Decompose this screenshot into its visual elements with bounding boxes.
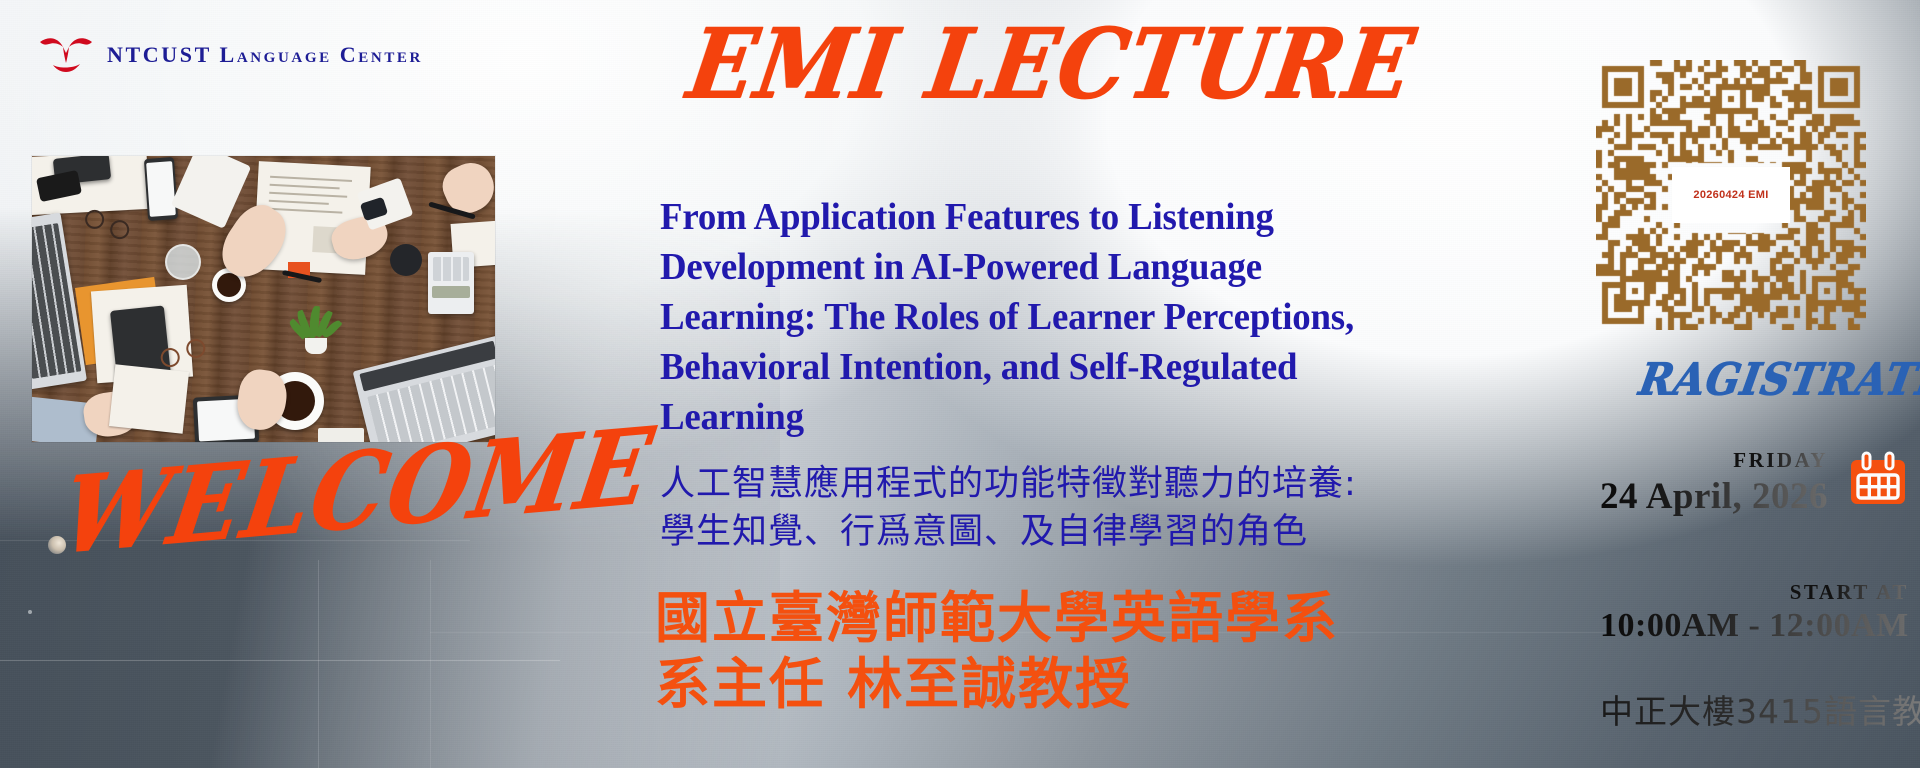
bird-wing-mark-icon	[38, 33, 94, 77]
hero-photo	[32, 156, 495, 442]
detail-row-time: Start at 10:00AM - 12:00AM	[1600, 580, 1920, 645]
lecture-title-en-line: Learning: The Roles of Learner Perceptio…	[660, 292, 1514, 342]
decor-dot-small	[28, 610, 32, 614]
registration-caption: RAGISTRATION	[1636, 358, 1920, 402]
qr-code-label: 20260424 EMI	[1672, 167, 1790, 223]
location-value: 中正大樓3415語言教室	[1600, 685, 1920, 733]
photo-water-glass	[165, 244, 201, 280]
lecture-title-en-line: Development in AI-Powered Language	[660, 242, 1514, 292]
speaker-name: 系主任 林至誠教授	[655, 651, 1555, 717]
brand-logo: NTCUST Language Center	[38, 33, 423, 77]
brand-name: NTCUST Language Center	[107, 42, 423, 68]
poster-canvas: NTCUST Language Center	[0, 0, 1920, 768]
photo-phone-white-screen	[146, 161, 176, 217]
detail-row-location: 中正大樓3415語言教室	[1600, 680, 1920, 738]
photo-mug-black	[390, 244, 422, 276]
time-value: 10:00AM - 12:00AM	[1600, 607, 1909, 645]
registration-qr-code[interactable]: 20260424 EMI	[1596, 60, 1866, 330]
speaker-affiliation: 國立臺灣師範大學英語學系	[655, 585, 1555, 651]
photo-phone-white-body	[144, 157, 178, 221]
lecture-title-en-line: Learning	[660, 392, 1514, 442]
speaker-block: 國立臺灣師範大學英語學系 系主任 林至誠教授	[655, 585, 1555, 717]
lecture-title-en: From Application Features to Listening D…	[660, 192, 1514, 442]
calendar-icon	[1846, 451, 1910, 515]
lecture-title-en-line: Behavioral Intention, and Self-Regulated	[660, 342, 1514, 392]
date-value: 24 April, 2026	[1600, 475, 1828, 518]
time-caption: Start at	[1790, 580, 1909, 605]
photo-calculator	[428, 252, 474, 314]
page-title: EMI LECTURE	[682, 17, 1421, 113]
detail-row-date: Friday 24 April, 2026	[1600, 448, 1910, 518]
date-caption: Friday	[1733, 448, 1828, 473]
lecture-title-en-line: From Application Features to Listening	[660, 192, 1514, 242]
photo-potted-plant	[294, 306, 338, 354]
photo-paper-bottom	[109, 364, 189, 433]
lecture-title-zh-line: 人工智慧應用程式的功能特徵對聽力的培養:	[660, 460, 1540, 508]
lecture-title-zh: 人工智慧應用程式的功能特徵對聽力的培養: 學生知覺、行爲意圖、及自律學習的角色	[660, 460, 1540, 556]
lecture-title-zh-line: 學生知覺、行爲意圖、及自律學習的角色	[660, 508, 1540, 556]
